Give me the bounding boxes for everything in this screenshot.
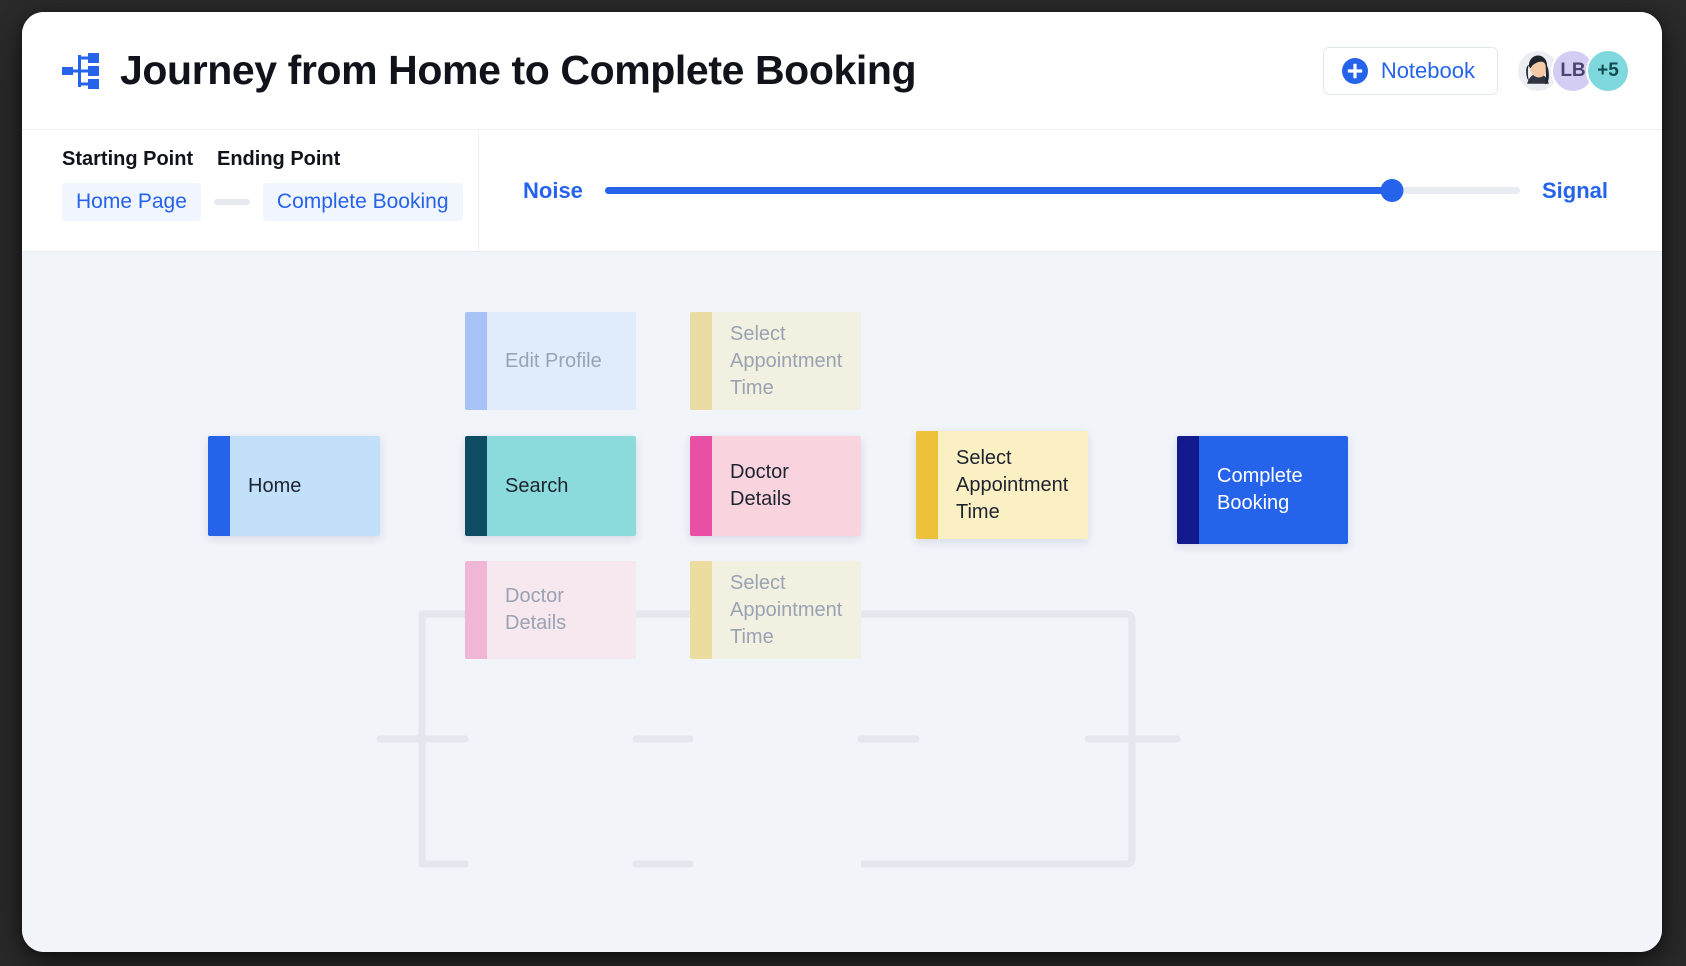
endpoint-labels: Starting Point Ending Point [62,148,479,171]
node-label: Doctor Details [487,561,636,659]
flow-node-complete-booking[interactable]: Complete Booking [1177,436,1348,544]
flow-node-select-time-top[interactable]: Select Appointment Time [690,312,861,410]
node-accent-bar [690,312,712,410]
plus-circle-icon [1342,58,1368,84]
flow-node-select-time-active[interactable]: Select Appointment Time [916,431,1088,539]
node-accent-bar [208,436,230,536]
node-accent-bar [465,436,487,536]
noise-signal-slider: Noise Signal [479,130,1662,251]
node-label: Home [230,436,380,536]
starting-point-label: Starting Point [62,148,217,171]
slider-signal-label: Signal [1542,178,1608,204]
flow-node-select-time-bottom[interactable]: Select Appointment Time [690,561,861,659]
slider-fill [605,187,1392,194]
avatar-stack[interactable]: LB +5 [1516,49,1630,93]
app-window: Journey from Home to Complete Booking No… [22,12,1662,952]
flow-node-doctor-details[interactable]: Doctor Details [690,436,861,536]
title-group: Journey from Home to Complete Booking [62,47,1323,94]
node-label: Select Appointment Time [712,561,861,659]
notebook-button-label: Notebook [1381,58,1475,84]
slider-noise-label: Noise [523,178,583,204]
node-label: Select Appointment Time [938,431,1088,539]
avatar-initials-label: LB [1560,60,1585,82]
add-notebook-button[interactable]: Notebook [1323,47,1498,95]
node-label: Doctor Details [712,436,861,536]
flow-node-edit-profile[interactable]: Edit Profile [465,312,636,410]
avatar-overflow-count[interactable]: +5 [1586,49,1630,93]
node-accent-bar [690,436,712,536]
flow-node-doctor-details-dim[interactable]: Doctor Details [465,561,636,659]
node-label: Edit Profile [487,312,636,410]
endpoint-chips: Home Page Complete Booking [62,183,479,221]
avatar-overflow-label: +5 [1597,60,1619,82]
journey-canvas[interactable]: HomeEdit ProfileSearchDoctor DetailsSele… [22,252,1662,952]
starting-point-chip[interactable]: Home Page [62,183,201,221]
slider-thumb[interactable] [1380,179,1403,202]
flow-node-search[interactable]: Search [465,436,636,536]
node-label: Search [487,436,636,536]
node-accent-bar [465,561,487,659]
page-title: Journey from Home to Complete Booking [120,47,916,94]
controls-bar: Starting Point Ending Point Home Page Co… [22,130,1662,252]
node-accent-bar [1177,436,1199,544]
ending-point-label: Ending Point [217,148,340,171]
flow-node-home[interactable]: Home [208,436,380,536]
node-label: Select Appointment Time [712,312,861,410]
hierarchy-icon [62,51,100,91]
endpoints-panel: Starting Point Ending Point Home Page Co… [22,130,479,251]
slider-track-area[interactable] [605,178,1520,204]
node-accent-bar [690,561,712,659]
ending-point-chip[interactable]: Complete Booking [263,183,463,221]
header-right: Notebook LB +5 [1323,47,1630,95]
header: Journey from Home to Complete Booking No… [22,12,1662,130]
chip-connector-dash [214,199,250,205]
node-label: Complete Booking [1199,436,1348,544]
node-accent-bar [465,312,487,410]
node-accent-bar [916,431,938,539]
